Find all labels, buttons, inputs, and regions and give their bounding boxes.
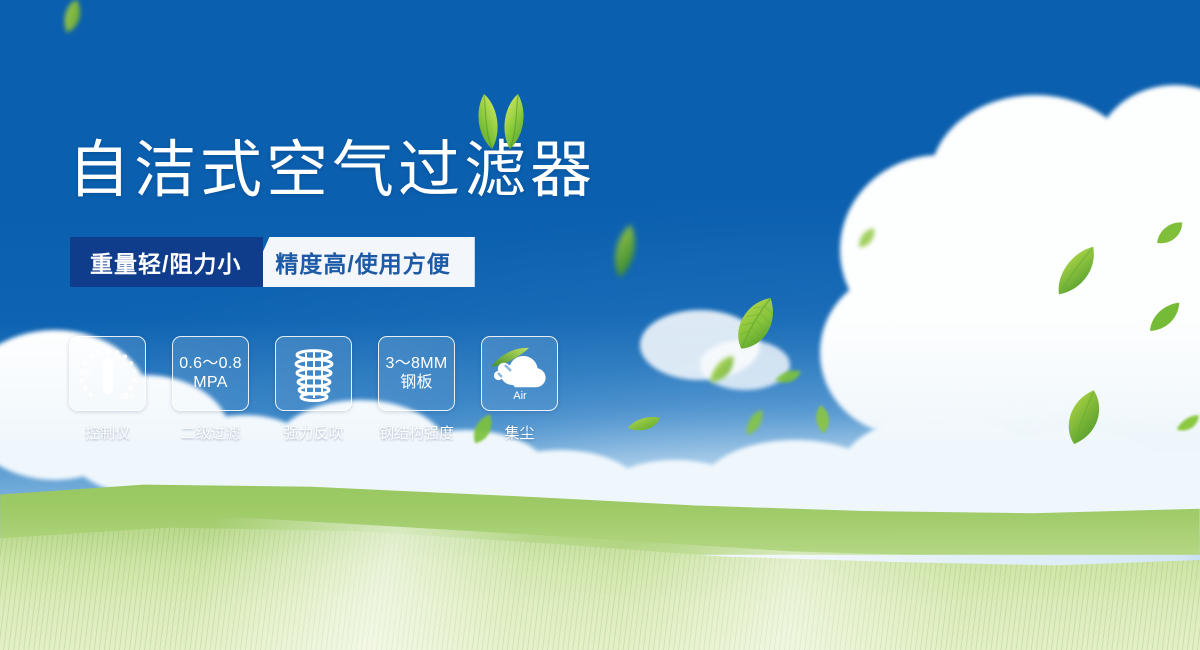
feature-icon-box: Air xyxy=(481,336,558,411)
feature-icon-text-line1: 3～8MM xyxy=(386,355,448,372)
subtitle-secondary: 精度高/使用方便 xyxy=(247,237,474,287)
cloud-air-label: Air xyxy=(513,390,527,402)
two-green-leaves-icon xyxy=(462,92,540,150)
gauge-dial-icon: NO OFF xyxy=(76,344,140,404)
feature-icon-text-line2: 钢板 xyxy=(386,374,448,393)
filter-stack-icon xyxy=(288,346,340,402)
steel-plate-text-icon: 3～8MM 钢板 xyxy=(386,355,448,393)
feature-label: 钢结构强度 xyxy=(379,422,454,443)
gauge-no-label: NO xyxy=(80,368,91,377)
feature-item[interactable]: NO OFF 控制仪 xyxy=(70,336,145,443)
product-banner: 自洁式空气过滤器 xyxy=(0,0,1200,650)
title-block: 自洁式空气过滤器 xyxy=(68,140,596,202)
feature-icon-box: 3～8MM 钢板 xyxy=(378,336,455,411)
feature-label: 二级过滤 xyxy=(180,422,240,443)
feature-icon-text-line2: MPA xyxy=(179,374,242,393)
feature-label: 强力反吹 xyxy=(283,422,343,443)
label-leaf-icon xyxy=(627,416,661,433)
pressure-text-icon: 0.6～0.8 MPA xyxy=(179,355,242,393)
feature-icon-text-line1: 0.6～0.8 xyxy=(179,355,242,372)
feature-item[interactable]: 强力反吹 xyxy=(276,336,351,443)
banner-content: 自洁式空气过滤器 xyxy=(0,0,1200,650)
feature-icon-box: 0.6～0.8 MPA xyxy=(172,336,249,411)
feature-item[interactable]: 3～8MM 钢板 钢结构强度 xyxy=(379,336,454,443)
subtitle-primary: 重量轻/阻力小 xyxy=(70,237,263,287)
feature-label: 集尘 xyxy=(504,422,534,443)
feature-label: 控制仪 xyxy=(85,422,130,443)
feature-item[interactable]: 0.6～0.8 MPA 二级过滤 xyxy=(173,336,248,443)
feature-icon-box xyxy=(275,336,352,411)
feature-item[interactable]: Air 集尘 xyxy=(482,336,557,443)
feature-list: NO OFF 控制仪 0.6～0.8 MPA 二级过滤 xyxy=(70,336,557,443)
gauge-off-label: OFF xyxy=(120,392,135,401)
subtitle-bar: 重量轻/阻力小 精度高/使用方便 xyxy=(70,237,475,287)
cloud-air-icon: Air xyxy=(489,345,551,403)
feature-icon-box: NO OFF xyxy=(69,336,146,411)
